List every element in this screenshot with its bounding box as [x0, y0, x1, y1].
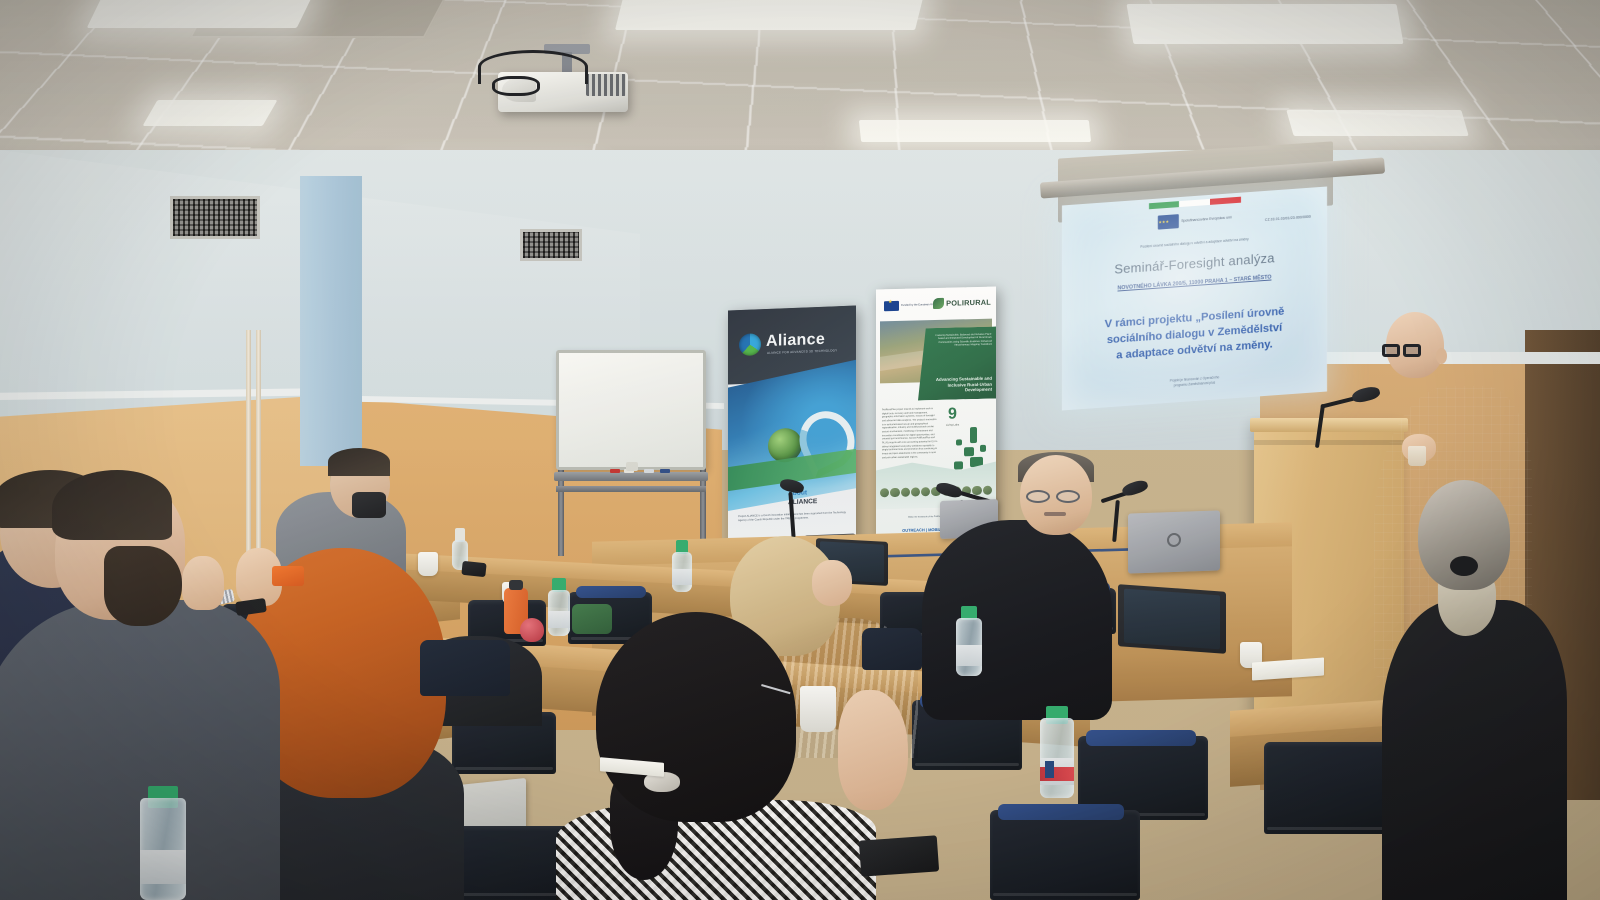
smartphone[interactable]: [859, 835, 939, 876]
eu-funding-label: Funded by the European Union: [901, 303, 937, 307]
paper-cup: [1408, 446, 1426, 466]
whiteboard-marker: [610, 469, 620, 473]
whiteboard-eraser: [626, 462, 638, 471]
projection-glow: [1062, 187, 1327, 411]
wall-pillar: [300, 176, 362, 466]
paper-cup[interactable]: [800, 686, 836, 732]
podium-edge-shadow: [1254, 440, 1404, 445]
ponytail-woman-hair: [596, 612, 796, 822]
whiteboard-marker-tray: [554, 472, 708, 481]
masked-man-hair: [328, 448, 390, 476]
wall-vent-grille: [520, 229, 582, 261]
polirural-body-text: PoliRuralPlus project intends to impleme…: [882, 408, 938, 461]
chair-back-trim: [1086, 730, 1196, 746]
eu-flag-icon: [884, 301, 899, 311]
dot-thumbnail: [890, 488, 899, 497]
bearded-man-hair: [52, 470, 172, 540]
whiteboard-surface: [556, 350, 706, 470]
water-bottle-mattoni[interactable]: [1040, 706, 1074, 798]
panelist-mustache: [1044, 512, 1066, 516]
chair-back-trim: [576, 586, 646, 598]
eyeglasses: [1026, 490, 1088, 503]
whiteboard-marker: [660, 469, 670, 473]
living-labs-label: Living Labs: [946, 423, 959, 426]
chair-back-trim: [998, 804, 1124, 820]
raised-hand: [182, 556, 224, 610]
water-bottle[interactable]: [956, 606, 982, 676]
polirural-brand-text: POLIRURAL: [946, 298, 991, 308]
green-panel-headline: Advancing Sustainable and Inclusive Rura…: [928, 376, 992, 394]
ceiling-projector: [488, 48, 638, 118]
laptop-front-dark[interactable]: [1118, 584, 1226, 654]
water-bottle[interactable]: [548, 578, 570, 636]
green-panel-small-text: Fostering Sustainable, Balanced and Incl…: [932, 333, 992, 348]
blonde-woman-hand: [812, 560, 852, 606]
wall-vent-grille: [170, 196, 260, 239]
smartphone[interactable]: [461, 561, 486, 577]
laptop-dell-silver[interactable]: [1128, 510, 1220, 573]
projector-vent: [586, 74, 626, 96]
leaf-icon: [933, 298, 944, 309]
whiteboard-crossbar: [556, 486, 706, 492]
dot-thumbnail: [880, 488, 889, 497]
water-bottle[interactable]: [140, 786, 186, 900]
bearded-man-beard: [104, 546, 182, 626]
polirural-brand: POLIRURAL: [933, 297, 991, 309]
whiteboard-marker: [644, 469, 654, 473]
hair-scrunchie: [1450, 556, 1478, 576]
projection-screen: Spolufinancováno Evropskou unií CZ.03.01…: [1062, 187, 1327, 411]
panelist-torso: [922, 520, 1112, 720]
bag: [862, 628, 922, 670]
standing-woman-blazer: [1382, 600, 1567, 900]
dot-thumbnail: [972, 486, 981, 495]
office-chair[interactable]: [990, 810, 1140, 900]
dot-thumbnail: [921, 487, 930, 496]
orange-object: [272, 566, 304, 586]
apple: [520, 618, 544, 642]
paper-cup[interactable]: [418, 552, 438, 576]
dot-thumbnail: [901, 487, 910, 496]
banner-green-panel: Fostering Sustainable, Balanced and Incl…: [918, 327, 996, 401]
dot-thumbnail: [911, 487, 920, 496]
living-labs-count: 9: [948, 405, 957, 423]
backpack: [420, 640, 510, 696]
eyeglasses: [1382, 344, 1426, 357]
speaker-ear: [1436, 348, 1447, 364]
whiteboard: [548, 350, 714, 550]
face-mask: [352, 492, 386, 518]
aliance-logo-text: Aliance: [766, 331, 825, 351]
green-bag: [572, 604, 612, 634]
projector-cable-loop: [492, 76, 540, 96]
photo-scene: Spolufinancováno Evropskou unií CZ.03.01…: [0, 0, 1600, 900]
podium-top-surface: [1250, 418, 1408, 432]
dot-thumbnail: [983, 485, 992, 494]
ponytail-woman-arm: [838, 690, 908, 810]
eu-funding-badge: Funded by the European Union: [884, 300, 937, 311]
water-bottle[interactable]: [672, 540, 692, 592]
